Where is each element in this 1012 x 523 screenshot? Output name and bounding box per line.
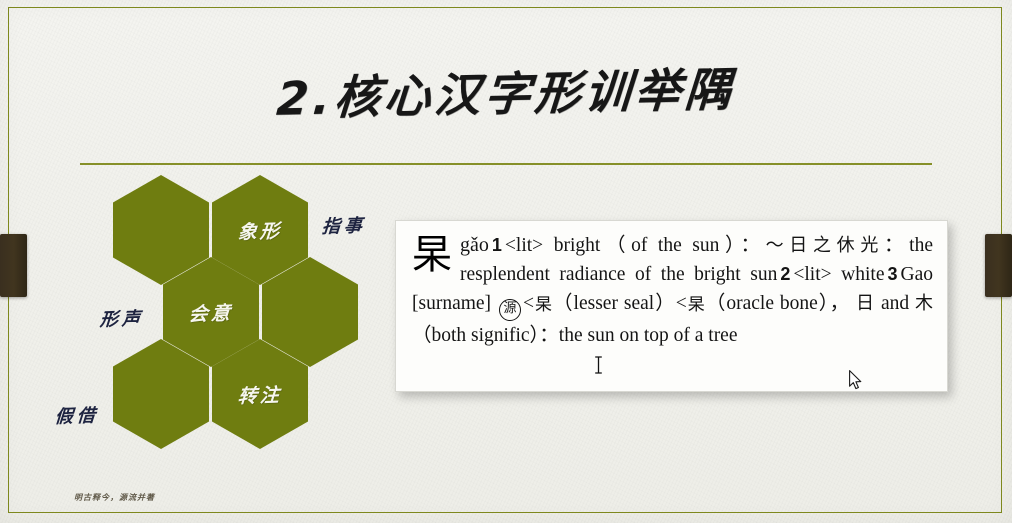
dictionary-pinyin: gǎo xyxy=(460,234,489,256)
label-jiajie: 假借 xyxy=(54,401,100,429)
etymology-signific-note: （both signific）： xyxy=(412,325,559,346)
sense-1-example-cjk: ～日之休光 xyxy=(766,235,884,256)
etymology-source-badge: 源 xyxy=(499,299,521,321)
hexagon-bottom-right-label: 转注 xyxy=(237,380,283,409)
sense-1-register-tag: <lit> xyxy=(505,235,543,256)
slide-canvas: 2.核心汉字形训举隅 象形 会意 转注 指事 形声 假借 杲gǎo1<lit> … xyxy=(0,0,1012,523)
oracle-bone-glyph: 杲 xyxy=(687,295,706,315)
sense-1-definition: bright（of the sun）： xyxy=(554,235,766,256)
dictionary-popup[interactable]: 杲gǎo1<lit> bright（of the sun）：～日之休光：the … xyxy=(395,220,948,392)
label-zhishi: 指事 xyxy=(321,211,367,239)
slide-footer-text: 明古释今，源流并著 xyxy=(74,492,155,503)
sense-1-number: 1 xyxy=(489,235,505,255)
hexagon-top-right-label: 象形 xyxy=(237,216,283,245)
sense-2-number: 2 xyxy=(777,264,793,284)
sense-2-definition: white xyxy=(841,264,884,285)
sense-1-example-separator: ： xyxy=(884,235,909,256)
sense-2-register-tag: <lit> xyxy=(793,264,831,285)
sense-3-number: 3 xyxy=(884,264,900,284)
etymology-component-sun: 日 xyxy=(856,293,875,314)
hexagon-middle-left-label: 会意 xyxy=(188,298,234,327)
dictionary-headword: 杲 xyxy=(412,233,452,277)
seal-script-note: （lesser seal） xyxy=(553,293,676,314)
dictionary-entry-body: 杲gǎo1<lit> bright（of the sun）：～日之休光：the … xyxy=(412,231,933,350)
title-divider xyxy=(80,163,932,165)
etymology-conjunction: and xyxy=(881,293,909,314)
label-xingsheng: 形声 xyxy=(99,304,145,332)
etymology-component-tree: 木 xyxy=(915,293,933,314)
etymology-gloss: the sun on top of a tree xyxy=(559,325,738,346)
oracle-bone-note: （oracle bone）， xyxy=(706,293,850,314)
etymology-lt-1: < xyxy=(523,293,534,314)
right-edge-tab xyxy=(985,234,1012,297)
etymology-lt-2: < xyxy=(676,293,687,314)
seal-script-glyph: 杲 xyxy=(534,295,553,315)
page-title: 2.核心汉字形训举隅 xyxy=(0,47,1012,134)
